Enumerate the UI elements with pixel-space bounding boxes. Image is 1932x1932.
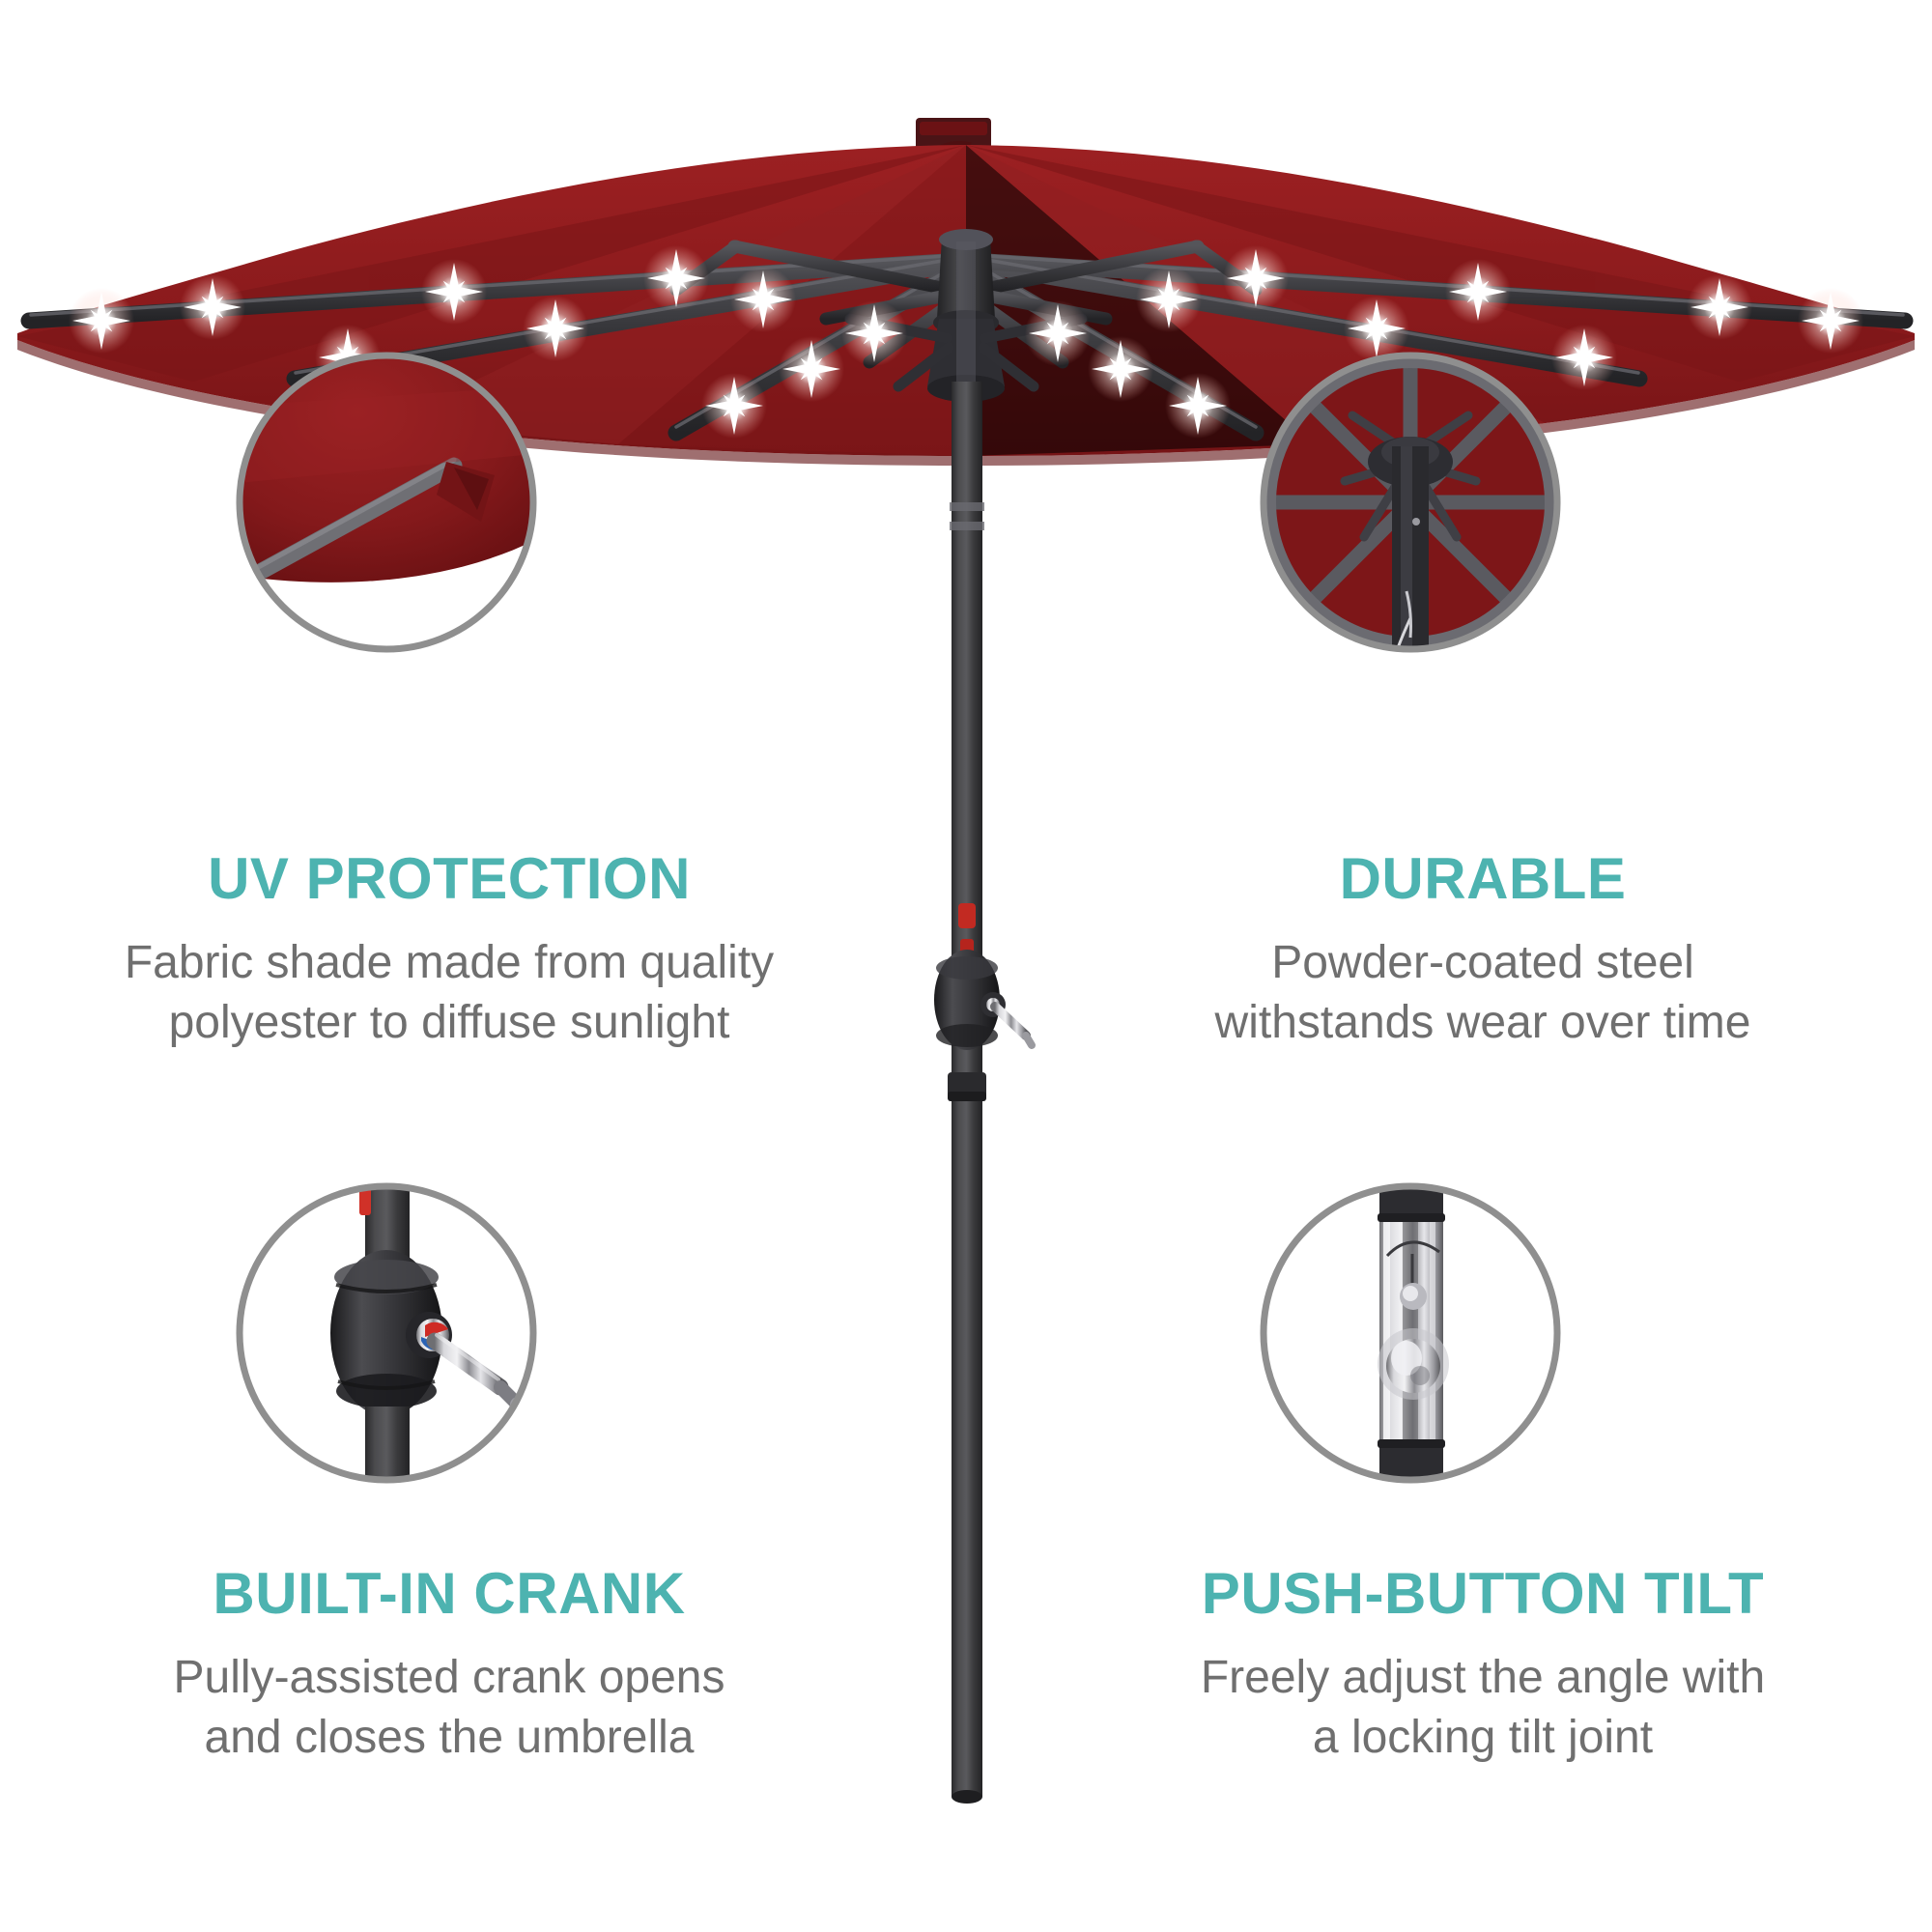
canopy-panel-shading <box>17 145 1915 456</box>
feature-uv-protection: UV PROTECTION Fabric shade made from qua… <box>34 850 865 1054</box>
push-button-tilt-callout <box>1264 1177 1557 1497</box>
feature-push-button-tilt: PUSH-BUTTON TILT Freely adjust the angle… <box>1067 1565 1898 1769</box>
canopy-hub <box>927 229 1005 402</box>
umbrella-pole <box>948 382 986 1804</box>
led-lights <box>69 245 1863 439</box>
feature-description-push-button-tilt: Freely adjust the angle with a locking t… <box>1067 1648 1898 1769</box>
tilt-button-indicator <box>958 903 976 928</box>
pole-crank-assembly <box>934 903 1032 1050</box>
umbrella-canopy <box>17 118 1915 466</box>
built-in-crank-callout <box>240 1177 533 1503</box>
feature-title-durable: DURABLE <box>1067 850 1898 908</box>
feature-title-push-button-tilt: PUSH-BUTTON TILT <box>1067 1565 1898 1623</box>
canopy-fabric <box>17 145 1915 456</box>
feature-description-durable: Powder-coated steel withstands wear over… <box>1067 933 1898 1054</box>
feature-description-uv-protection: Fabric shade made from quality polyester… <box>34 933 865 1054</box>
uv-protection-callout <box>240 355 533 649</box>
feature-durable: DURABLE Powder-coated steel withstands w… <box>1067 850 1898 1054</box>
callout-ring <box>240 355 533 649</box>
callout-ring <box>240 1186 533 1480</box>
tilt-push-button <box>1378 1328 1449 1400</box>
feature-built-in-crank: BUILT-IN CRANK Pully-assisted crank open… <box>34 1565 865 1769</box>
feature-title-built-in-crank: BUILT-IN CRANK <box>34 1565 865 1623</box>
callout-ring <box>1264 355 1557 649</box>
canopy-crown <box>831 118 1101 184</box>
tilt-joint-cylinder <box>1379 1217 1443 1445</box>
callout-ring <box>1264 1186 1557 1480</box>
canopy-ribs <box>29 229 1905 433</box>
feature-description-built-in-crank: Pully-assisted crank opens and closes th… <box>34 1648 865 1769</box>
durable-callout <box>1256 348 1565 674</box>
feature-title-uv-protection: UV PROTECTION <box>34 850 865 908</box>
product-feature-infographic: UV PROTECTION Fabric shade made from qua… <box>0 0 1932 1932</box>
